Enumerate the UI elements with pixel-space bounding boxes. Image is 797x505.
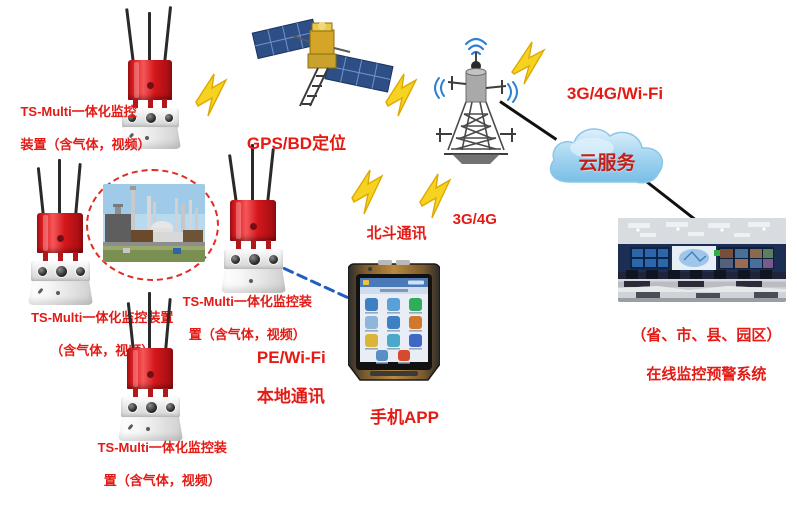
antenna	[148, 292, 151, 352]
camera-lens	[75, 266, 86, 277]
camera-lens	[230, 254, 241, 265]
mobile-app-device	[348, 258, 440, 382]
device-bottom-left-label-line2: 置（含气体，视频）	[104, 473, 221, 488]
link-3g4g-label-text: 3G/4G	[453, 211, 497, 228]
link-3g4g-label: 3G/4G	[436, 192, 526, 248]
cloud-service-label: 云服务	[540, 148, 674, 175]
device-red-body	[127, 348, 173, 389]
camera-lens	[248, 253, 261, 266]
camera-lens	[268, 254, 279, 265]
control-room-photo	[618, 218, 786, 302]
camera-lens	[55, 265, 68, 278]
tower-label-text: 3G/4G/Wi-Fi	[567, 84, 663, 103]
antenna	[148, 12, 151, 64]
satellite-label-text: GPS/BD定位	[247, 134, 346, 153]
camera-lens	[37, 266, 48, 277]
device-top-left-label-line1: TS-Multi一体化监控	[20, 104, 136, 119]
diagram-canvas: TS-Multi一体化监控 装置（含气体，视频） TS-Multi一体化监控装置…	[0, 0, 797, 464]
device-bottom-left	[108, 290, 200, 432]
device-red-body	[230, 200, 276, 241]
antenna	[163, 6, 172, 64]
satellite-label: GPS/BD定位	[228, 112, 358, 176]
device-logo	[147, 371, 154, 378]
mobile-app-label: 手机APP	[340, 386, 450, 450]
device-red-body	[37, 213, 83, 253]
camera-lens	[165, 402, 176, 413]
camera-lens	[164, 113, 174, 123]
control-room-label: （省、市、县、园区） 在线监控预警系统	[598, 306, 797, 404]
device-top-left-label-line2: 装置（含气体，视频）	[20, 137, 150, 152]
bolt-icon	[192, 72, 240, 123]
antenna	[74, 163, 82, 217]
mobile-app-label-text: 手机APP	[370, 408, 439, 427]
control-room-label-line2: 在线监控预警系统	[646, 366, 766, 383]
antenna	[125, 8, 135, 64]
camera-lens	[127, 402, 138, 413]
device-logo	[250, 223, 257, 230]
control-room-label-line1: （省、市、县、园区）	[631, 327, 781, 344]
industrial-plant-photo	[103, 184, 205, 262]
link-beidou-label-text: 北斗通讯	[367, 225, 427, 242]
cloud-service-icon: 云服务	[540, 118, 674, 196]
device-logo	[57, 235, 64, 242]
satellite-icon	[250, 8, 398, 116]
device-center-label-line1: TS-Multi一体化监控装	[183, 294, 312, 309]
antenna	[58, 159, 61, 217]
antenna	[37, 167, 45, 217]
antenna	[164, 298, 172, 352]
device-bottom-left-label: TS-Multi一体化监控装 置（含气体，视频）	[60, 424, 250, 505]
antenna	[127, 302, 135, 352]
device-bottom-left-label-line1: TS-Multi一体化监控装	[98, 440, 227, 455]
link-local-label-line1: PE/Wi-Fi	[257, 348, 326, 367]
tower-label: 3G/4G/Wi-Fi	[548, 62, 718, 126]
link-local-label-line2: 本地通讯	[257, 387, 325, 406]
bolt-icon	[382, 72, 430, 123]
camera-lens	[145, 401, 158, 414]
